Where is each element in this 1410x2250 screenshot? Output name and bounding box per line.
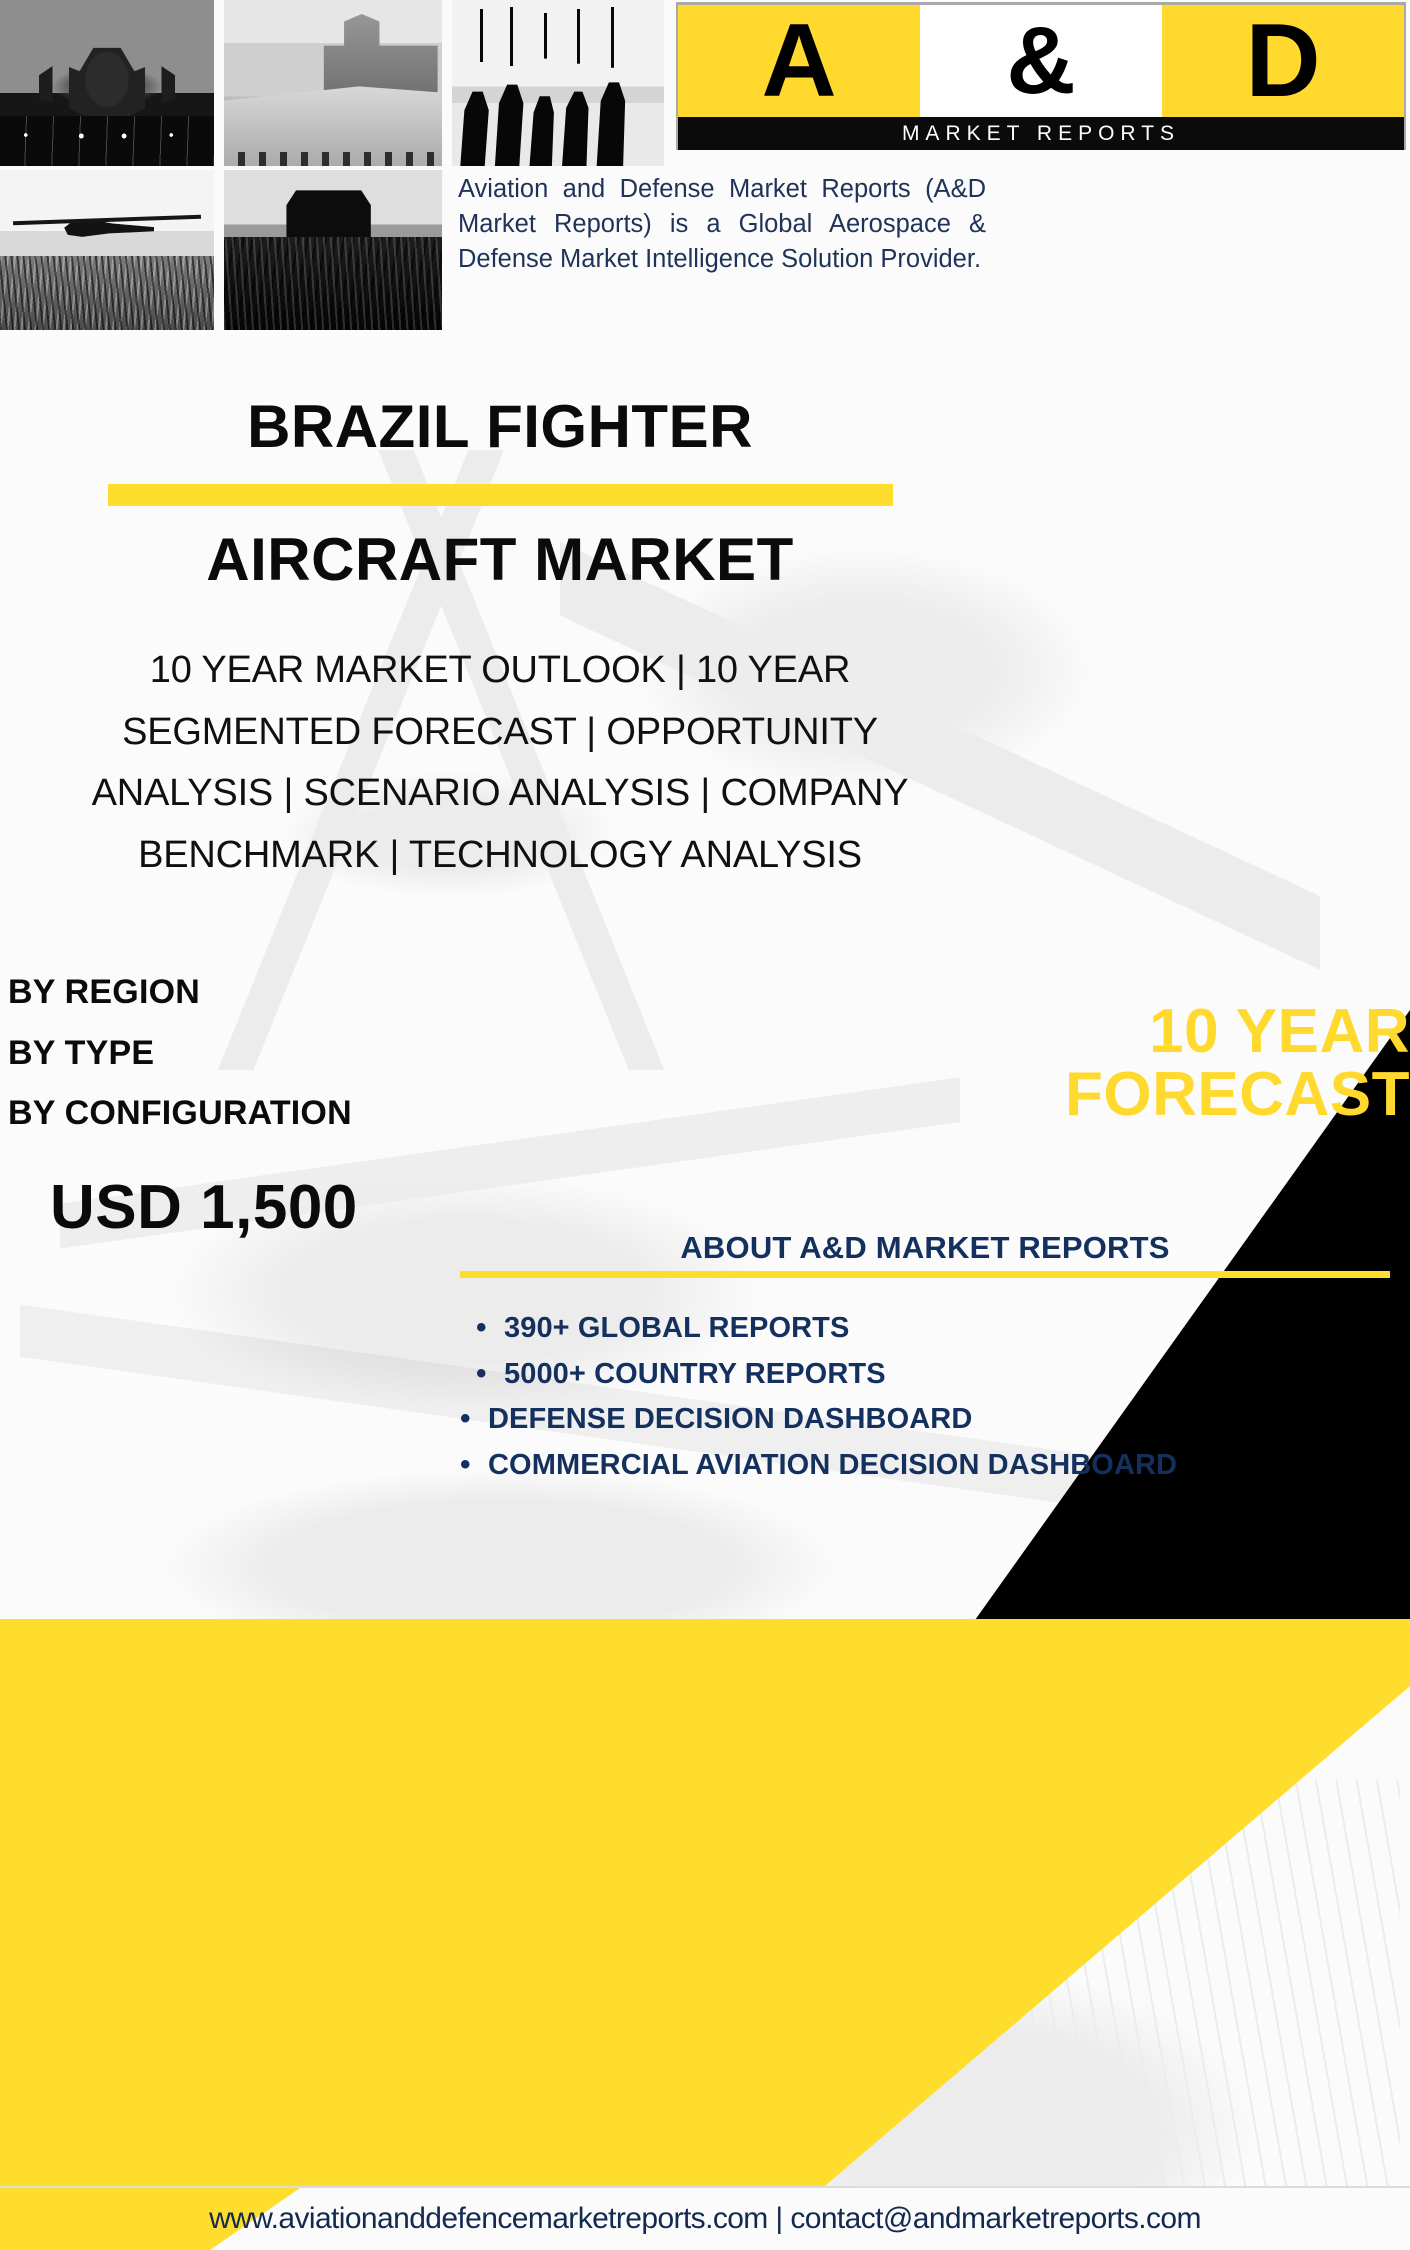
armored-vehicle-photo [224,170,442,330]
about-title-underline [460,1271,1390,1278]
segment-by-type: BY TYPE [8,1023,352,1084]
page-title-line1: BRAZIL FIGHTER [0,395,1000,458]
about-bullet-list: 390+ GLOBAL REPORTS 5000+ COUNTRY REPORT… [460,1310,1390,1485]
segment-by-region: BY REGION [8,962,352,1023]
forecast-badge: 10 YEAR FORECAST [950,1000,1410,1126]
about-panel: ABOUT A&D MARKET REPORTS 390+ GLOBAL REP… [460,1230,1390,1493]
logo-letter-a: A [678,5,920,117]
segmentation-list: BY REGION BY TYPE BY CONFIGURATION [8,962,352,1144]
soldiers-silhouette-photo [452,0,664,166]
about-panel-title: ABOUT A&D MARKET REPORTS [460,1230,1390,1266]
company-description: Aviation and Defense Market Reports (A&D… [458,172,986,278]
segment-by-configuration: BY CONFIGURATION [8,1083,352,1144]
price-label: USD 1,500 [50,1172,358,1243]
fighter-jet-photo [0,0,214,166]
forecast-badge-line1: 10 YEAR [950,1000,1410,1063]
footer: www.aviationanddefencemarketreports.com … [0,2188,1410,2250]
logo-ampersand: & [920,5,1162,117]
footer-contact-text[interactable]: www.aviationanddefencemarketreports.com … [209,2202,1201,2236]
forecast-badge-line2: FORECAST [950,1063,1410,1126]
aircraft-carrier-photo [224,0,442,166]
about-bullet-commercial-dashboard: COMMERCIAL AVIATION DECISION DASHBOARD [444,1447,1390,1485]
yellow-top-strip [0,1619,1410,1686]
yellow-price-wedge [0,1686,1410,2250]
about-bullet-defense-dashboard: DEFENSE DECISION DASHBOARD [444,1401,1390,1439]
about-bullet-global-reports: 390+ GLOBAL REPORTS [460,1310,1390,1348]
about-bullet-country-reports: 5000+ COUNTRY REPORTS [460,1356,1390,1394]
logo-letter-d: D [1162,5,1404,117]
report-title-block: BRAZIL FIGHTER AIRCRAFT MARKET [0,395,1000,591]
helicopter-photo [0,170,214,330]
report-subtitle: 10 YEAR MARKET OUTLOOK | 10 YEAR SEGMENT… [30,640,970,886]
title-underline-bar [108,484,893,506]
logo-subtitle: MARKET REPORTS [678,117,1404,150]
header-banner: A & D MARKET REPORTS Aviation and Defens… [0,0,1410,340]
ad-market-reports-logo: A & D MARKET REPORTS [676,2,1406,150]
page-title-line2: AIRCRAFT MARKET [0,528,1000,591]
